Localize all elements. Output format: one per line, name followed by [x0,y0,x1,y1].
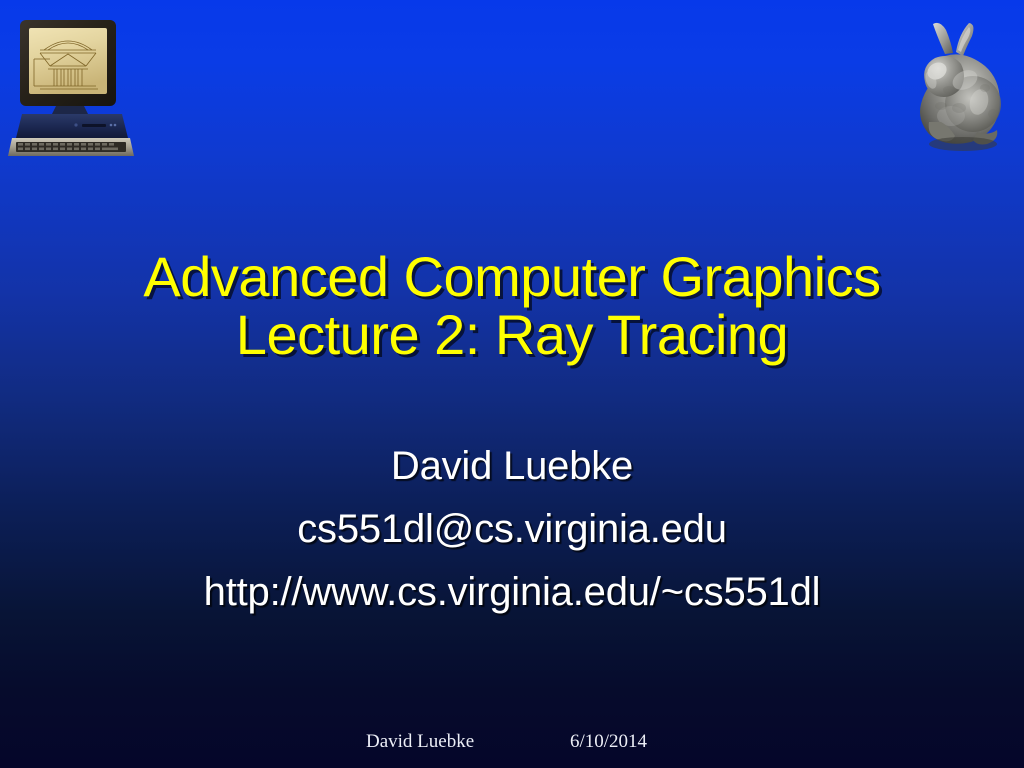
title-line-2: Lecture 2: Ray Tracing [60,306,964,364]
presentation-slide: Advanced Computer Graphics Lecture 2: Ra… [0,0,1024,768]
slide-title: Advanced Computer Graphics Lecture 2: Ra… [60,248,964,363]
computer-monitor-clipart [4,14,136,162]
course-url[interactable]: http://www.cs.virginia.edu/~cs551dl [60,570,964,615]
presenter-email[interactable]: cs551dl@cs.virginia.edu [60,507,964,552]
slide-subtitle-block: David Luebke cs551dl@cs.virginia.edu htt… [60,444,964,633]
footer-author: David Luebke [366,731,474,753]
slide-footer: David Luebke 6/10/2014 [0,731,1024,759]
presenter-name: David Luebke [60,444,964,489]
stanford-bunny-render [893,18,1017,154]
footer-date: 6/10/2014 [570,731,647,753]
title-line-1: Advanced Computer Graphics [60,248,964,306]
